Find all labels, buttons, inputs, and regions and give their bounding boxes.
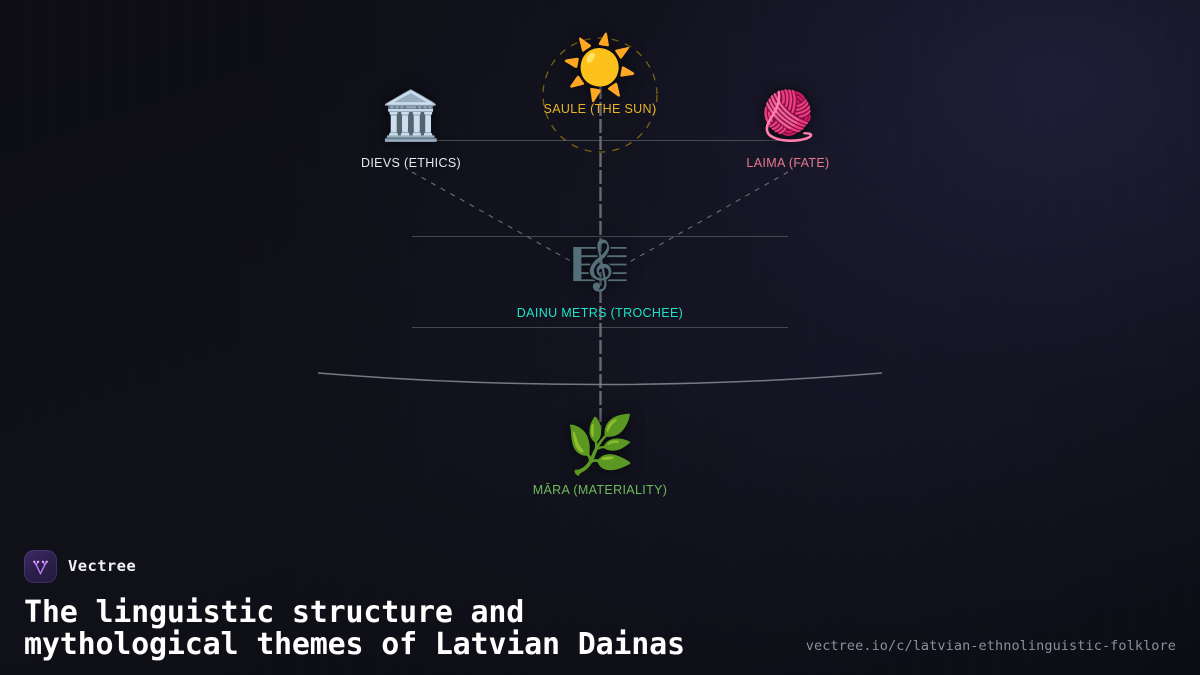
- brand[interactable]: Vectree: [24, 550, 1176, 583]
- poster-canvas: ☀️ SAULE (THE SUN) 🏛️ DIEVS (ETHICS) 🧶 L…: [0, 0, 1200, 675]
- vectree-tree-logo-icon: [24, 550, 57, 583]
- diagram-node-saule[interactable]: ☀️ SAULE (THE SUN): [544, 38, 657, 116]
- diagram-node-dainu-metrs[interactable]: 🎼 DAINU METRS (TROCHEE): [517, 243, 683, 320]
- sun-icon: ☀️: [544, 38, 657, 100]
- page-title: The linguistic structure and mythologica…: [24, 597, 724, 661]
- diagram-node-mara[interactable]: 🌿 MĀRA (MATERIALITY): [533, 417, 668, 497]
- brand-name: Vectree: [68, 557, 136, 575]
- diagram-node-dievs[interactable]: 🏛️ DIEVS (ETHICS): [361, 93, 461, 170]
- footer: Vectree The linguistic structure and myt…: [0, 550, 1200, 675]
- diagram-node-label-dainu-metrs: DAINU METRS (TROCHEE): [517, 306, 683, 320]
- diagram-node-label-dievs: DIEVS (ETHICS): [361, 156, 461, 170]
- diagram-node-label-laima: LAIMA (FATE): [746, 156, 829, 170]
- source-url[interactable]: vectree.io/c/latvian-ethnolinguistic-fol…: [806, 638, 1176, 654]
- yarn-ball-icon: 🧶: [746, 93, 829, 141]
- musical-score-icon: 🎼: [517, 243, 683, 291]
- herb-plant-icon: 🌿: [533, 417, 668, 473]
- classical-building-icon: 🏛️: [361, 93, 461, 141]
- diagram-node-label-mara: MĀRA (MATERIALITY): [533, 483, 668, 497]
- diagram-node-label-saule: SAULE (THE SUN): [544, 102, 657, 116]
- diagram-node-laima[interactable]: 🧶 LAIMA (FATE): [746, 93, 829, 170]
